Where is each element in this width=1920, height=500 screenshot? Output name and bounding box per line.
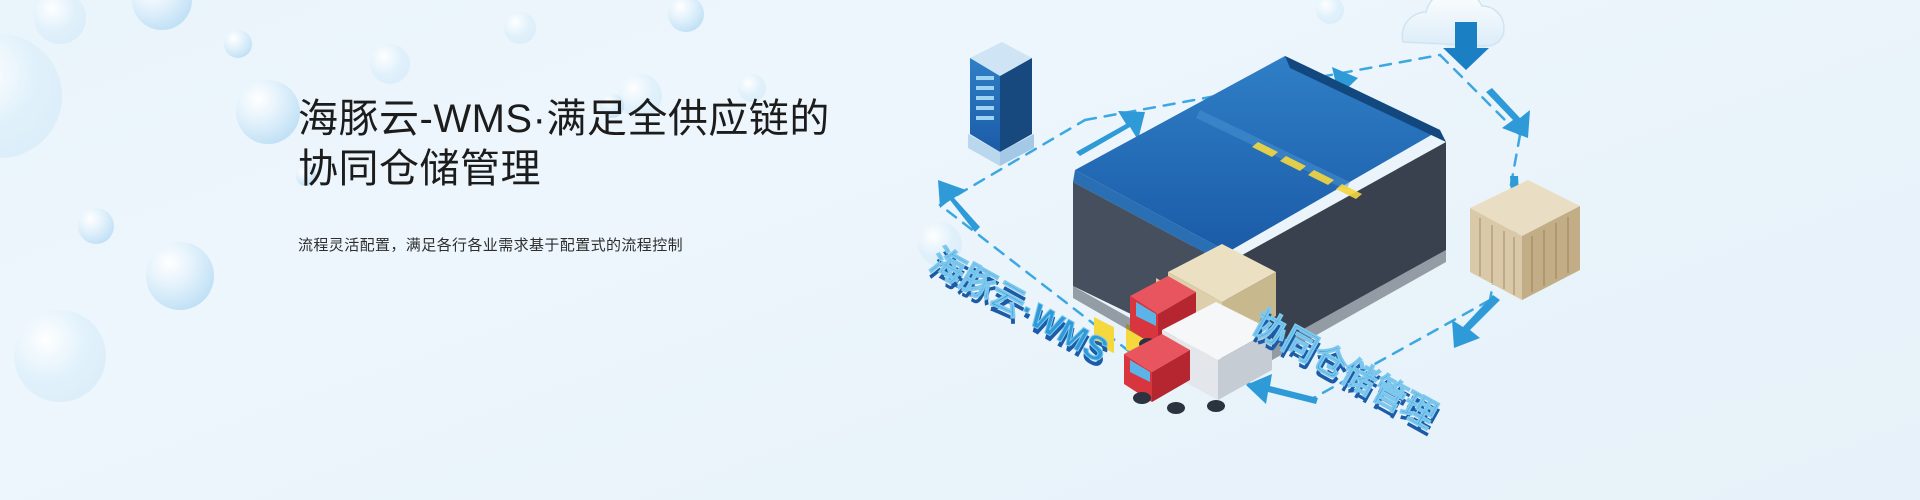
bubble-0 [34, 0, 86, 44]
shipping-container-icon [1470, 180, 1580, 300]
hero-text-block: 海豚云-WMS·满足全供应链的 协同仓储管理 流程灵活配置，满足各行各业需求基于… [298, 94, 918, 258]
headline-line-2: 协同仓储管理 [298, 144, 918, 194]
bubble-3 [0, 34, 62, 158]
bubble-2 [224, 30, 252, 58]
bubble-10 [504, 12, 536, 44]
bubble-7 [236, 80, 300, 144]
headline-line-1: 海豚云-WMS·满足全供应链的 [298, 97, 830, 141]
warehouse-illustration: 海豚云·WMS 海豚云·WMS 协同仓储管理 协同仓储管理 [880, 0, 1580, 500]
bubble-6 [14, 310, 106, 402]
illustration-label-right: 协同仓储管理 协同仓储管理 [1244, 304, 1446, 442]
cloud-download-icon [1402, 0, 1504, 70]
bubble-12 [668, 0, 704, 32]
bubble-5 [146, 242, 214, 310]
bubble-4 [78, 208, 114, 244]
page-title: 海豚云-WMS·满足全供应链的 协同仓储管理 [298, 94, 918, 194]
bubble-9 [370, 44, 410, 84]
hero-subtitle: 流程灵活配置，满足各行各业需求基于配置式的流程控制 [298, 234, 918, 258]
bubble-1 [132, 0, 192, 30]
hero-banner: 海豚云-WMS·满足全供应链的 协同仓储管理 流程灵活配置，满足各行各业需求基于… [0, 0, 1920, 500]
server-rack-icon [968, 42, 1034, 166]
label-right-text: 协同仓储管理 [1246, 304, 1443, 436]
